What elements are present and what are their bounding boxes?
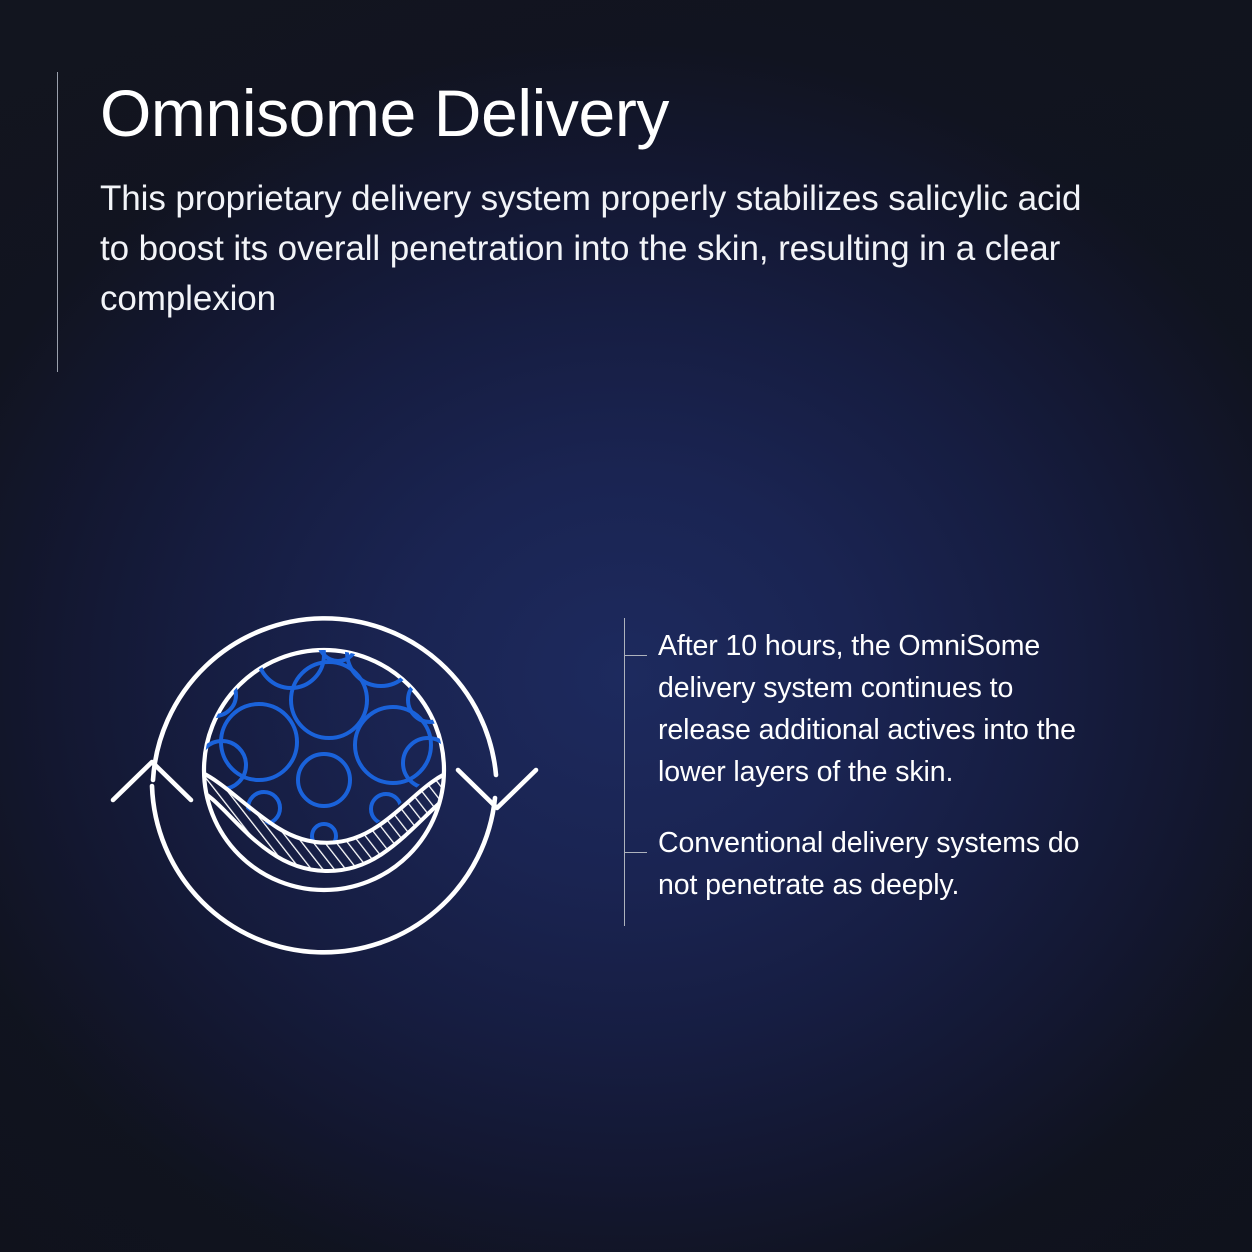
bubble [186, 817, 212, 843]
bubble [435, 809, 461, 835]
tick-dash-icon [625, 834, 647, 853]
infographic-slide: Omnisome Delivery This proprietary deliv… [0, 0, 1252, 1252]
page-subtitle: This proprietary delivery system properl… [100, 152, 1100, 324]
tick-dash-icon [625, 637, 647, 656]
callout-omnisome: After 10 hours, the OmniSome delivery sy… [625, 637, 1098, 793]
callout-omnisome-text: After 10 hours, the OmniSome delivery sy… [647, 625, 1098, 793]
callout-list: After 10 hours, the OmniSome delivery sy… [624, 618, 1124, 926]
bubble [319, 623, 357, 661]
callout-conventional-text: Conventional delivery systems do not pen… [647, 822, 1098, 906]
header-block: Omnisome Delivery This proprietary deliv… [57, 72, 1117, 372]
page-title: Omnisome Delivery [100, 72, 1117, 152]
bubble [298, 754, 350, 806]
callout-conventional: Conventional delivery systems do not pen… [625, 834, 1098, 906]
bubble [276, 584, 308, 616]
omnisome-delivery-diagram [96, 580, 576, 980]
